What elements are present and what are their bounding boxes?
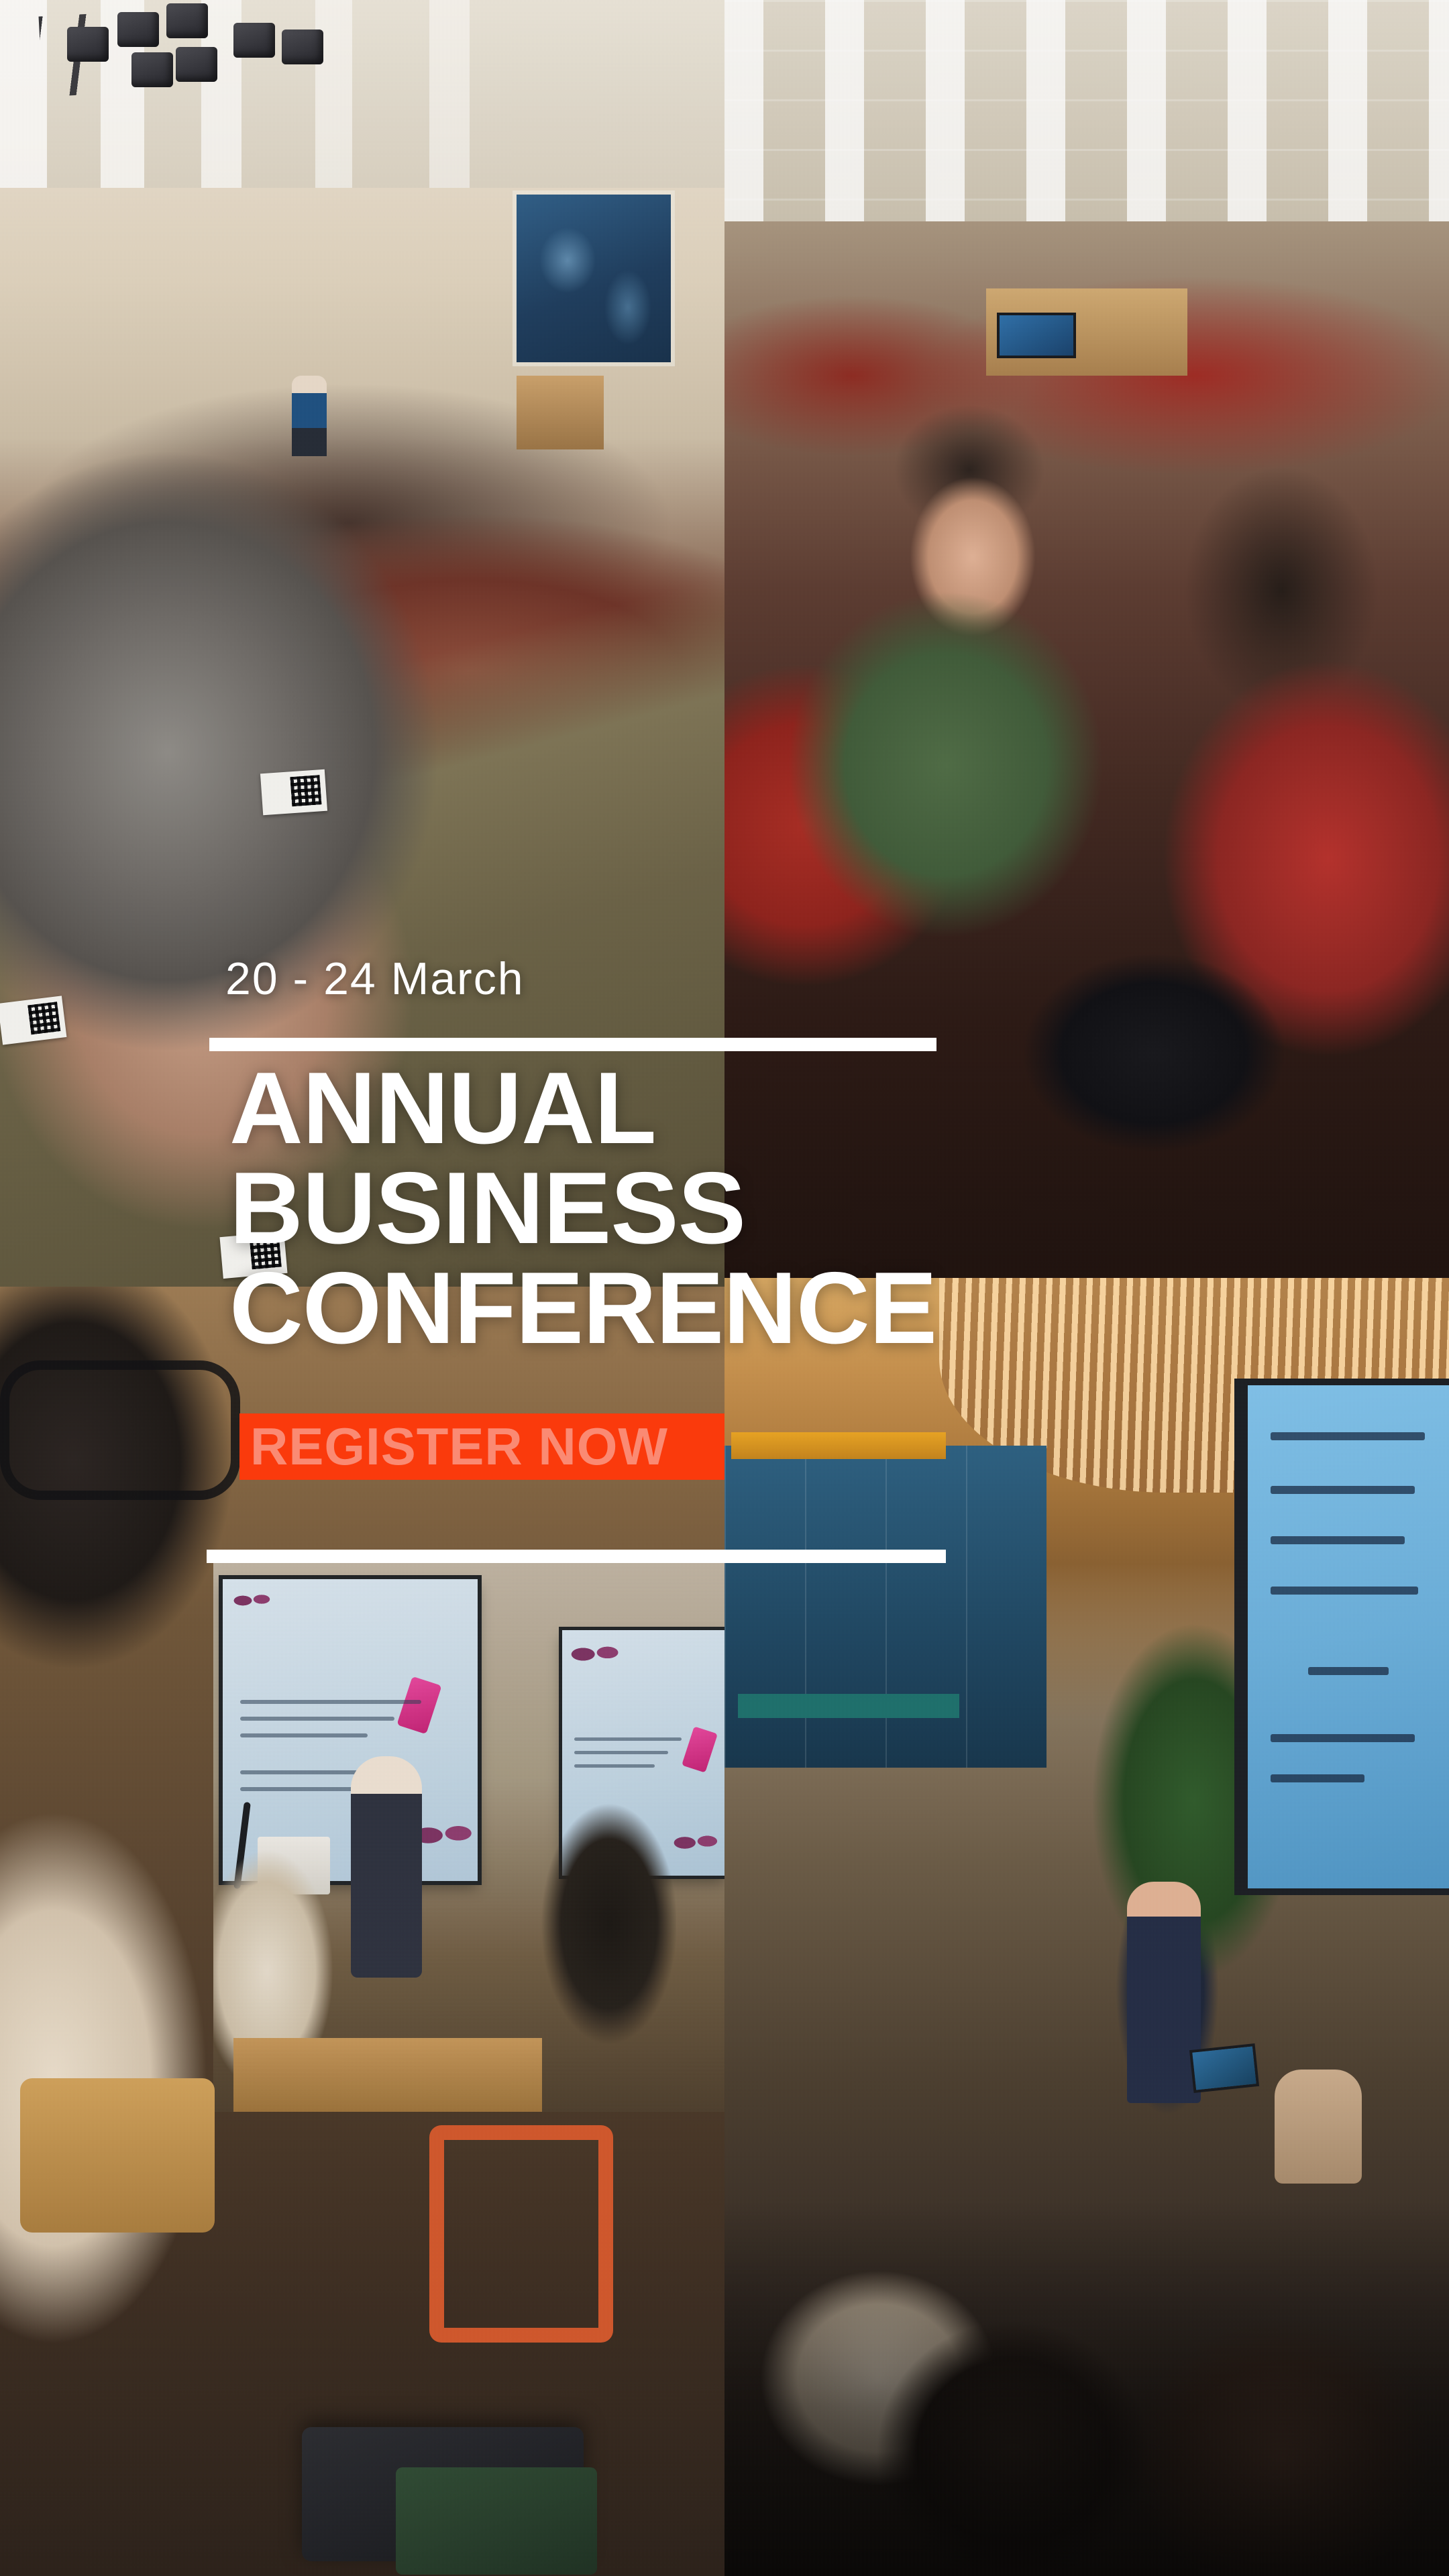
stage-light-icon	[282, 30, 323, 64]
stage-light-icon	[166, 3, 208, 38]
stage-light-icon	[117, 12, 159, 47]
film-grain	[0, 0, 724, 1287]
inset-photo-presentation	[213, 1555, 724, 2112]
stage-speaker	[292, 376, 327, 456]
workshop-speaker	[351, 1756, 422, 1978]
storefront-sign	[731, 1432, 946, 1459]
slide-ornament	[672, 1825, 724, 1861]
photo-bottom-left-workshop	[0, 1287, 724, 2576]
attendee-foreground-right	[535, 1803, 676, 2112]
ceiling-lights	[724, 0, 1449, 221]
table	[233, 2038, 542, 2112]
stage-light-icon	[67, 27, 109, 62]
stage-light-icon	[131, 52, 173, 87]
orange-chair	[429, 2125, 613, 2343]
photo-bottom-right-speaker-moss-wall	[724, 1278, 1449, 2576]
presentation-screen-primary	[223, 1579, 478, 1881]
seat-qr-card	[0, 996, 66, 1044]
booth-monitor	[1000, 315, 1073, 356]
register-now-button[interactable]: REGISTER NOW	[239, 1413, 724, 1480]
confidence-monitor	[1192, 2046, 1256, 2090]
keynote-speaker	[1127, 1882, 1201, 2103]
lounge-chair	[1275, 2070, 1362, 2184]
eyeglasses-foreground	[0, 1360, 240, 1500]
projected-slide	[1248, 1385, 1449, 1888]
stage-screen	[517, 195, 671, 362]
register-now-label: REGISTER NOW	[239, 1416, 724, 1477]
stage-light-icon	[176, 47, 217, 82]
slide-ornament	[569, 1635, 625, 1673]
photo-top-right-clapping-attendee	[724, 0, 1449, 1278]
seat-qr-card	[219, 1232, 287, 1279]
photo-top-left-auditorium	[0, 0, 724, 1287]
wooden-chair	[20, 2078, 215, 2233]
podium	[517, 376, 604, 449]
stage-light-icon	[233, 23, 275, 58]
foreground-shadow	[724, 2200, 1449, 2576]
store-notice-strip	[738, 1694, 959, 1718]
slide-diamond-graphic	[682, 1726, 718, 1772]
slide-diamond-graphic	[396, 1676, 441, 1734]
conference-poster: 20 - 24 March ANNUAL BUSINESS CONFERENCE…	[0, 0, 1449, 2576]
glass-facade	[724, 1446, 1046, 1768]
seat-qr-card	[260, 769, 327, 816]
notebook	[396, 2467, 597, 2575]
slide-ornament	[232, 1586, 275, 1615]
